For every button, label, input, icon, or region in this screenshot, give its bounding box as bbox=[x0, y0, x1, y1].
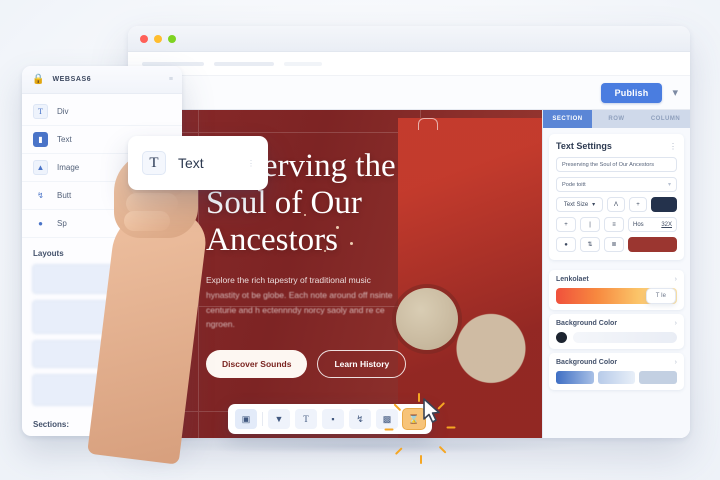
spacer-icon: ● bbox=[33, 216, 48, 231]
toolbar-text-icon[interactable]: T bbox=[295, 409, 317, 429]
dragged-text-element-card[interactable]: T Text ⋮ bbox=[128, 136, 268, 190]
accent-color-swatch[interactable] bbox=[628, 237, 677, 252]
chevron-right-icon[interactable]: › bbox=[675, 359, 677, 366]
div-icon: T bbox=[33, 104, 48, 119]
toolbar-layout-icon[interactable]: ▣ bbox=[235, 409, 257, 429]
color-knob-icon[interactable] bbox=[556, 332, 567, 343]
element-label: Text bbox=[57, 135, 72, 144]
list-icon[interactable]: ≡ bbox=[604, 217, 624, 232]
font-select-value: Pode toitt bbox=[562, 182, 586, 188]
chevron-right-icon[interactable]: › bbox=[675, 320, 677, 327]
element-item-div[interactable]: T Div bbox=[22, 98, 182, 126]
background-header-1: Background Color › bbox=[556, 320, 677, 327]
toolbar-divider bbox=[262, 412, 263, 426]
background-header-2: Background Color › bbox=[556, 359, 677, 366]
traffic-light-minimize-icon[interactable] bbox=[154, 35, 162, 43]
background-label-2: Background Color bbox=[556, 359, 617, 366]
tab-column[interactable]: COLUMN bbox=[641, 110, 690, 128]
hero-body-line-1: Explore the rich tapestry of traditional… bbox=[206, 275, 371, 285]
scene-background: Publish ▾ bbox=[0, 0, 720, 480]
text-size-row: Text Size ▾ Λ + bbox=[556, 197, 677, 212]
text-element-icon: T bbox=[142, 151, 166, 175]
text-size-label: Text Size bbox=[564, 202, 588, 208]
chevron-down-icon: ▾ bbox=[592, 201, 595, 208]
text-content-input[interactable]: Preserving the Soul of Our Ancestors bbox=[556, 157, 677, 172]
background-label-1: Background Color bbox=[556, 320, 617, 327]
lock-icon: 🔒 bbox=[32, 74, 44, 85]
alignment-row: + | ≡ Hos 32X bbox=[556, 217, 677, 232]
text-content-value: Preserving the Soul of Our Ancestors bbox=[562, 162, 654, 168]
gradient-card: Lenkolaet › T Ie bbox=[549, 270, 684, 310]
learn-history-button[interactable]: Learn History bbox=[317, 350, 406, 378]
effects-row: ● ⇅ ≣ bbox=[556, 237, 677, 252]
shape-icon[interactable]: ● bbox=[556, 237, 576, 252]
caret-up-icon[interactable]: Λ bbox=[607, 197, 625, 212]
plus-icon[interactable]: + bbox=[556, 217, 576, 232]
finger bbox=[124, 211, 170, 231]
line-icon[interactable]: | bbox=[580, 217, 600, 232]
color-swatch-1[interactable] bbox=[556, 371, 594, 384]
more-vertical-icon[interactable]: ⋮ bbox=[669, 142, 677, 151]
gradient-label: Lenkolaet bbox=[556, 276, 589, 283]
panel-title: Text Settings bbox=[556, 141, 612, 151]
gradient-tooltip: T Ie bbox=[646, 288, 676, 304]
browser-placeholder-bar bbox=[128, 52, 690, 76]
flip-icon[interactable]: ⇅ bbox=[580, 237, 600, 252]
background-color-card-1: Background Color › bbox=[549, 314, 684, 349]
spacing-value: 32X bbox=[661, 222, 672, 228]
elements-panel-header: 🔒 WEBSAS6 ≡ bbox=[22, 66, 182, 94]
panel-header: Text Settings ⋮ bbox=[556, 141, 677, 151]
button-icon: ↯ bbox=[33, 188, 48, 203]
elements-panel-title: WEBSAS6 bbox=[52, 76, 91, 83]
toolbar-video-icon[interactable]: ▼ bbox=[268, 409, 290, 429]
text-color-swatch[interactable] bbox=[651, 197, 677, 212]
hero-title-line-2: Soul of Our bbox=[206, 185, 362, 221]
traffic-light-maximize-icon[interactable] bbox=[168, 35, 176, 43]
element-label: Butt bbox=[57, 191, 71, 200]
editor-toolbar: Publish ▾ bbox=[128, 76, 690, 110]
color-swatch-2[interactable] bbox=[598, 371, 636, 384]
chevron-down-icon: ▾ bbox=[668, 181, 671, 188]
plus-icon[interactable]: + bbox=[629, 197, 647, 212]
text-settings-card: Text Settings ⋮ Preserving the Soul of O… bbox=[549, 134, 684, 260]
sections-title: Sections: bbox=[33, 420, 69, 429]
toolbar-form-icon[interactable]: ▩ bbox=[376, 409, 398, 429]
settings-tabs: SECTION ROW COLUMN bbox=[543, 110, 690, 128]
tab-row[interactable]: ROW bbox=[592, 110, 641, 128]
browser-titlebar bbox=[128, 26, 690, 52]
spacing-field[interactable]: Hos 32X bbox=[628, 217, 677, 232]
tab-section[interactable]: SECTION bbox=[543, 110, 592, 128]
skeleton-bar bbox=[284, 62, 322, 66]
hero-button-group: Discover Sounds Learn History bbox=[206, 350, 428, 378]
chevron-down-icon[interactable]: ▾ bbox=[672, 86, 678, 99]
background-color-card-2: Background Color › bbox=[549, 353, 684, 390]
element-label: Image bbox=[57, 163, 79, 172]
spacing-label: Hos bbox=[633, 222, 644, 228]
color-slider-track[interactable] bbox=[573, 332, 677, 343]
forearm bbox=[87, 205, 209, 464]
image-icon: ▲ bbox=[33, 160, 48, 175]
filter-icon[interactable]: ≣ bbox=[604, 237, 624, 252]
drag-handle-icon[interactable]: ⋮ bbox=[247, 159, 254, 168]
hand-illustration bbox=[96, 152, 228, 452]
skeleton-bar bbox=[214, 62, 274, 66]
dragged-element-label: Text bbox=[178, 155, 204, 171]
publish-button[interactable]: Publish bbox=[601, 83, 663, 103]
hero-body-line-2: hynastity ot be globe. Each note around bbox=[206, 290, 356, 300]
hero-body-text[interactable]: Explore the rich tapestry of traditional… bbox=[206, 273, 406, 333]
element-label: Sp bbox=[57, 219, 67, 228]
cursor-arrow-icon bbox=[422, 398, 444, 424]
settings-panel: SECTION ROW COLUMN Text Settings ⋮ Prese… bbox=[542, 110, 690, 438]
font-select[interactable]: Pode toitt ▾ bbox=[556, 177, 677, 192]
text-size-select[interactable]: Text Size ▾ bbox=[556, 197, 603, 212]
floating-toolbar: ▣ ▼ T ▪ ↯ ▩ ⌛ bbox=[228, 404, 432, 434]
color-swatch-row bbox=[556, 371, 677, 384]
element-label: Div bbox=[57, 107, 69, 116]
traffic-light-close-icon[interactable] bbox=[140, 35, 148, 43]
skeleton-bar bbox=[142, 62, 204, 66]
menu-icon[interactable]: ≡ bbox=[169, 76, 172, 83]
toolbar-button-icon[interactable]: ↯ bbox=[349, 409, 371, 429]
chevron-right-icon[interactable]: › bbox=[675, 276, 677, 283]
color-toggle-row[interactable] bbox=[556, 332, 677, 343]
text-icon: ▮ bbox=[33, 132, 48, 147]
color-swatch-3[interactable] bbox=[639, 371, 677, 384]
gradient-header: Lenkolaet › bbox=[556, 276, 677, 283]
toolbar-image-icon[interactable]: ▪ bbox=[322, 409, 344, 429]
